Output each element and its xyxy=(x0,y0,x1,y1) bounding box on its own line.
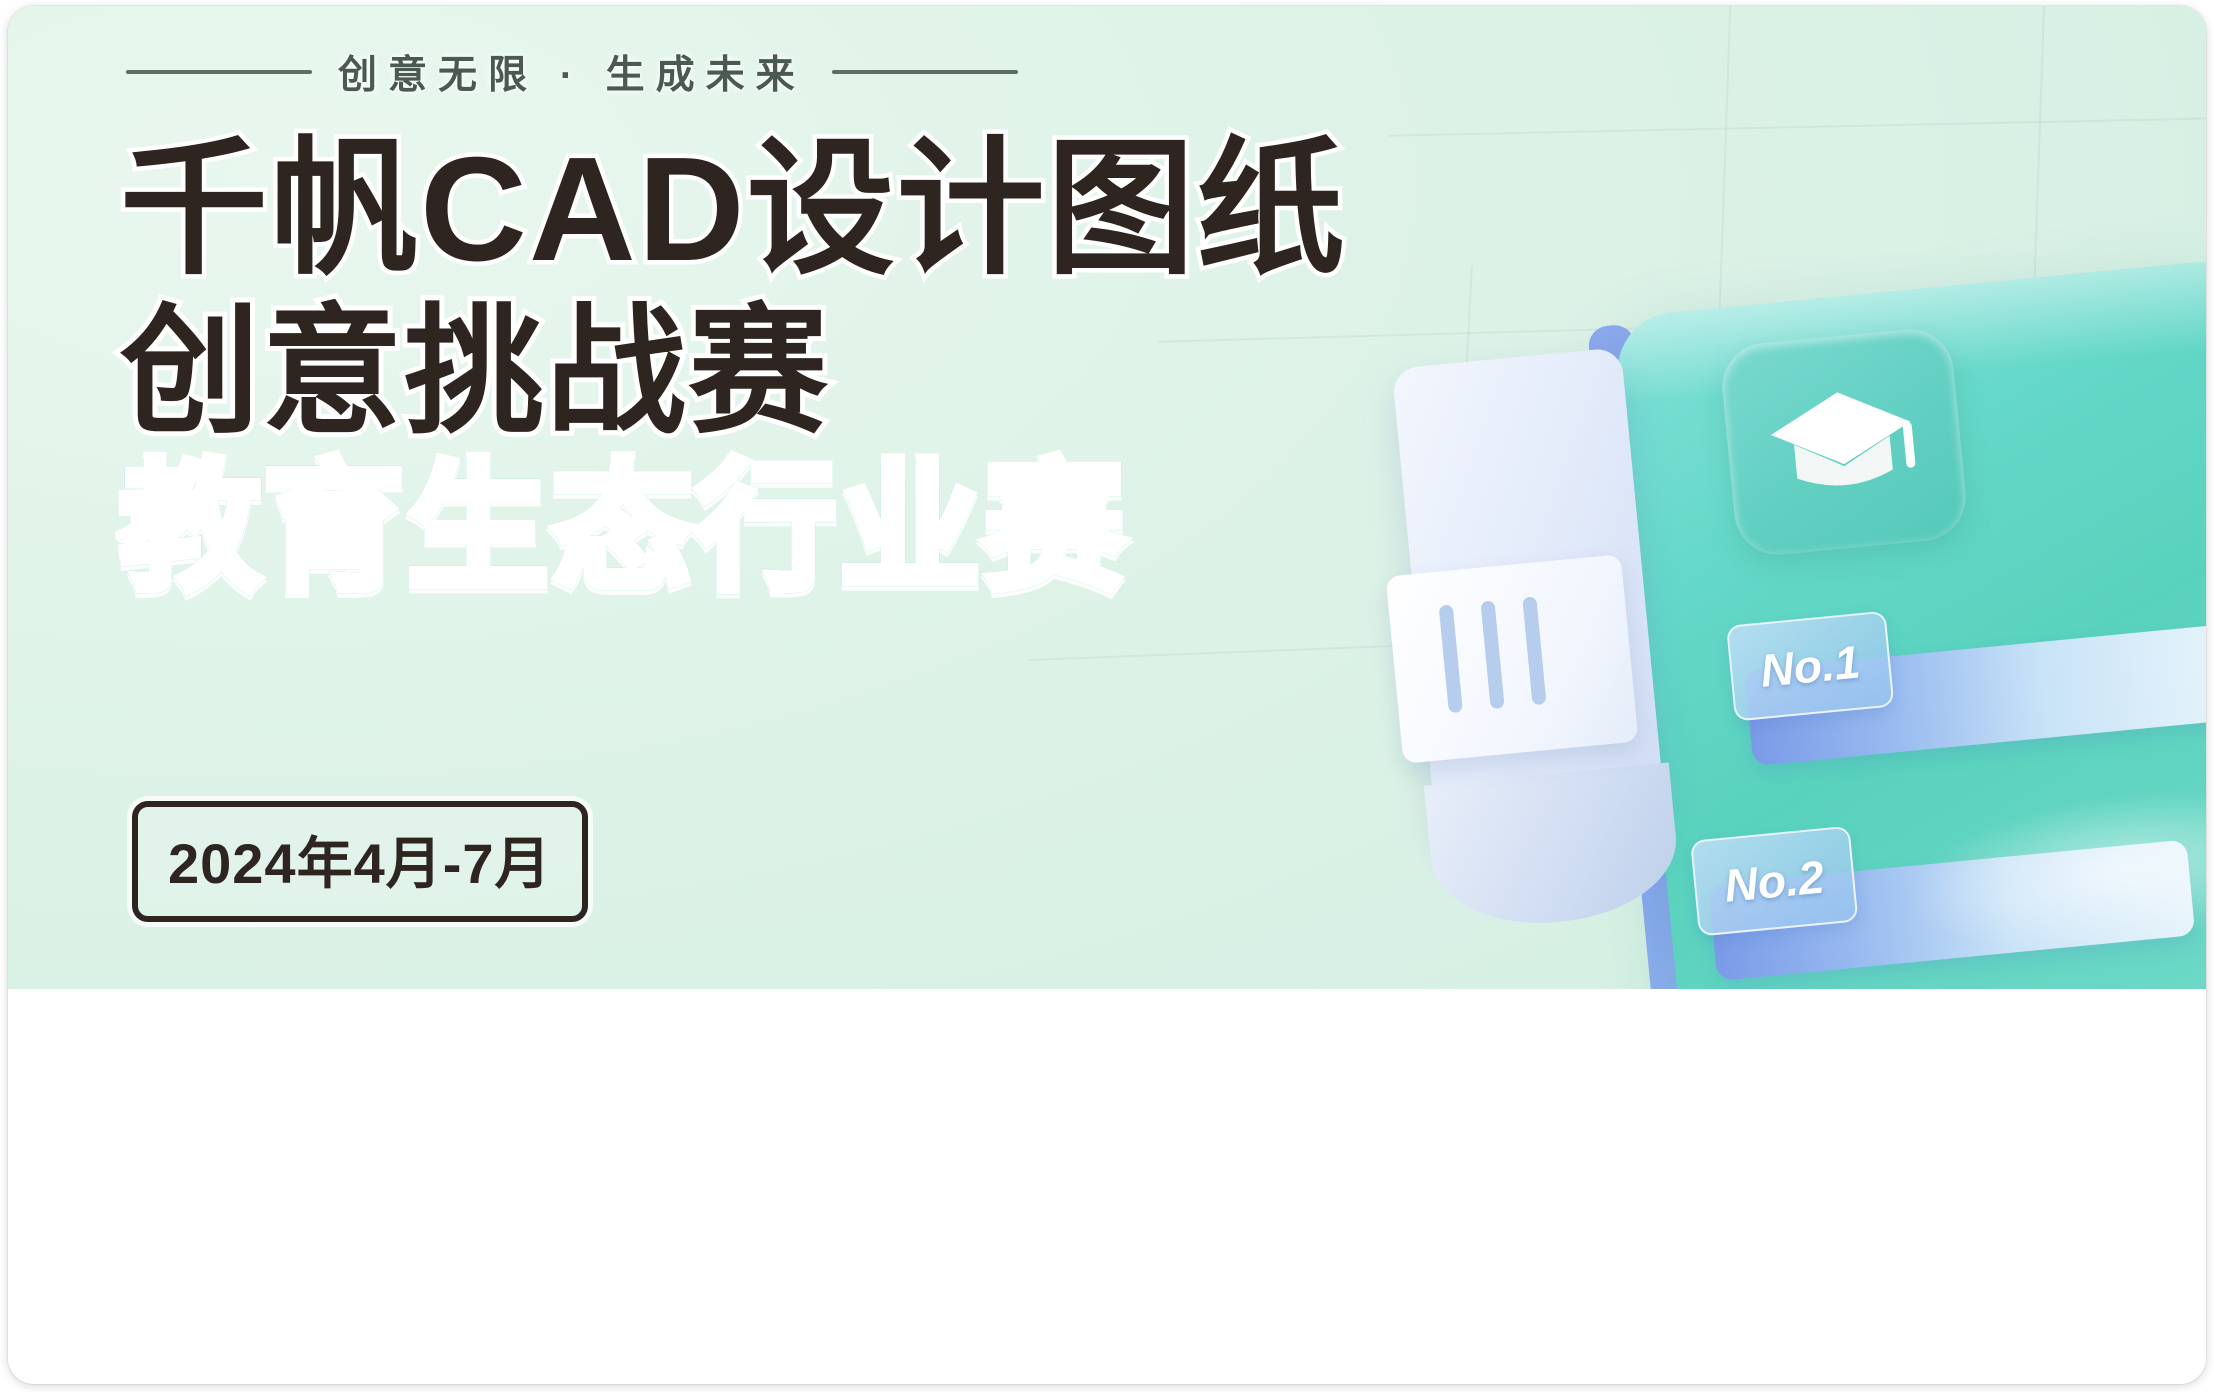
graduation-cap-icon xyxy=(1765,375,1926,509)
tagline-rule-right xyxy=(832,70,1018,74)
date-badge: 2024年4月-7月 xyxy=(132,801,588,922)
rank-label-2: No.2 xyxy=(1722,849,1826,912)
tagline: 创意无限 · 生成未来 xyxy=(126,44,1018,100)
title-line-3: 教育生态行业赛 xyxy=(120,458,1520,598)
rank-label-1: No.1 xyxy=(1758,634,1862,697)
tagline-text: 创意无限 · 生成未来 xyxy=(338,44,806,100)
blueprint-scroll xyxy=(1366,343,1718,929)
date-badge-label: 2024年4月-7月 xyxy=(168,832,552,895)
title-line-2: 创意挑战赛 xyxy=(120,302,1520,442)
hero-banner: 创意无限 · 生成未来 千帆CAD设计图纸 创意挑战赛 教育生态行业赛 2024… xyxy=(8,6,2206,989)
content-area xyxy=(8,989,2206,1384)
rank-chip-1: No.1 xyxy=(1726,611,1894,722)
page-card: 创意无限 · 生成未来 千帆CAD设计图纸 创意挑战赛 教育生态行业赛 2024… xyxy=(8,6,2206,1384)
headline-block: 千帆CAD设计图纸 创意挑战赛 教育生态行业赛 xyxy=(120,136,1520,598)
tagline-rule-left xyxy=(126,70,312,74)
hero-illustration: No.1 No.2 xyxy=(1346,276,2206,989)
title-line-1: 千帆CAD设计图纸 xyxy=(120,136,1520,284)
scroll-sheet xyxy=(1386,554,1639,764)
graduation-cap-tile xyxy=(1718,325,1969,558)
